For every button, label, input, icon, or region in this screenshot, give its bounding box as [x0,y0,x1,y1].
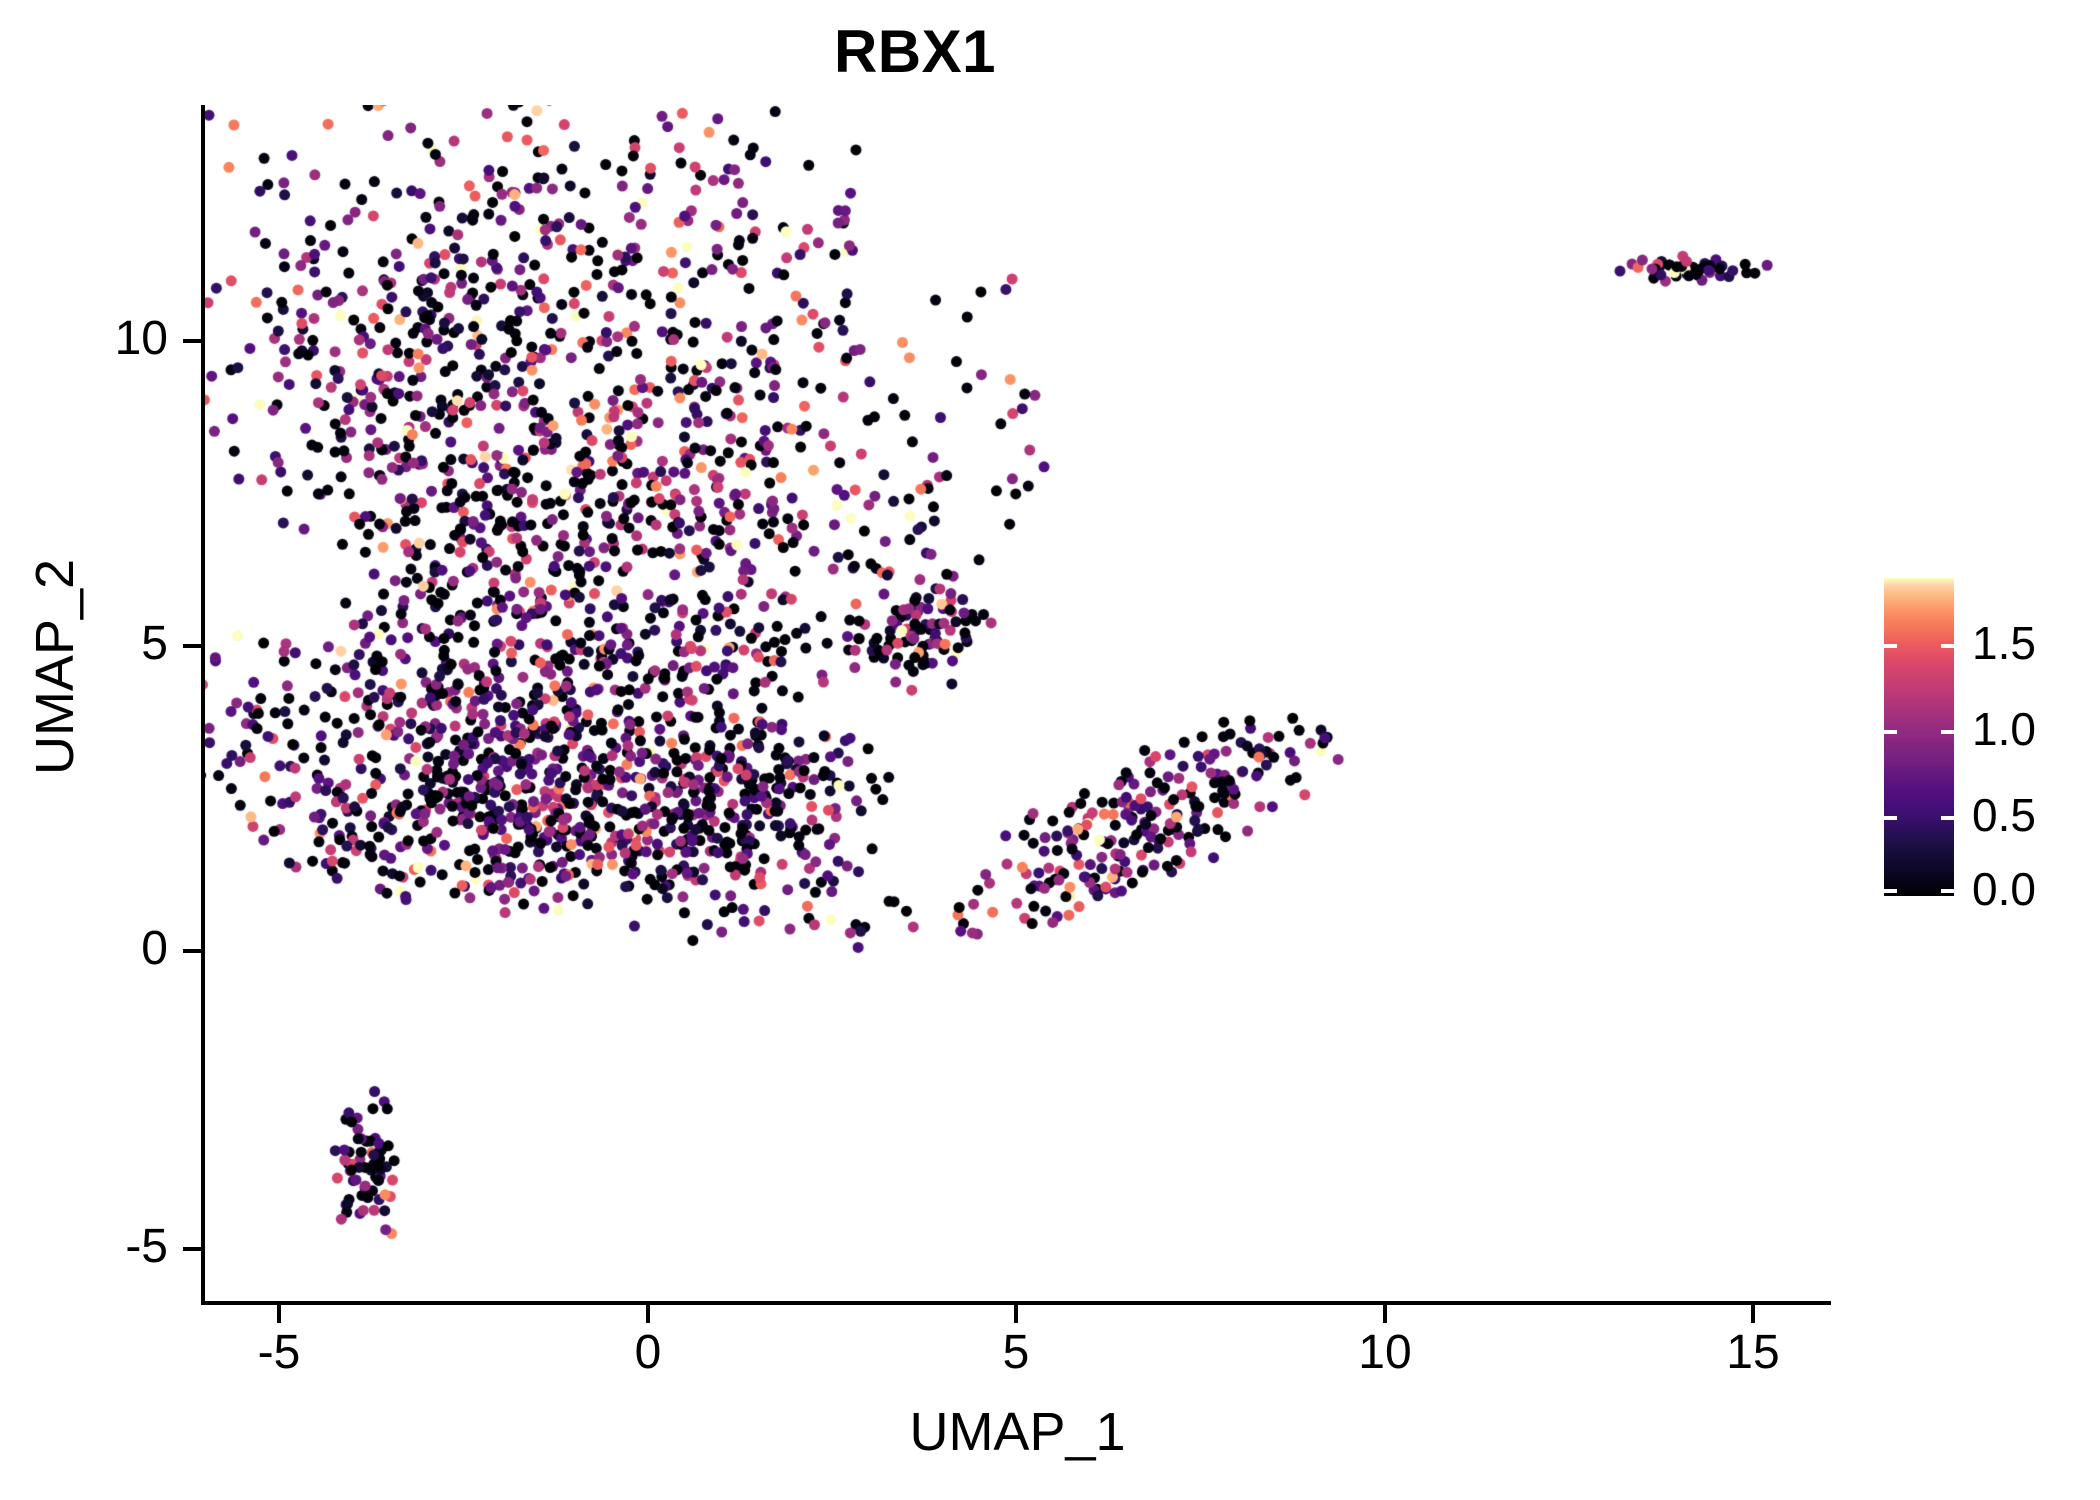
page-title: RBX1 [0,22,1830,82]
scatter-points-canvas [205,105,1830,1303]
colorbar-label: 1.0 [1972,706,2036,752]
x-tick-label: -5 [199,1328,359,1378]
colorbar-tick [1884,644,1897,648]
colorbar-tick [1941,889,1954,893]
colorbar-tick [1884,730,1897,734]
x-tick-mark [646,1305,650,1323]
y-tick-mark [183,339,201,343]
colorbar-label: 0.0 [1972,866,2036,912]
x-tick-mark [1014,1305,1018,1323]
colorbar-gradient [1884,578,1954,896]
colorbar-tick [1884,889,1897,893]
x-tick-label: 15 [1673,1328,1833,1378]
x-tick-mark [1383,1305,1387,1323]
colorbar-tick [1941,644,1954,648]
y-tick-label: 0 [0,924,168,974]
umap-feature-plot: RBX1 -5 0 5 10 15 -5 0 5 10 UMAP_1 UMAP_… [0,0,2100,1500]
y-axis-line [201,105,205,1305]
y-tick-mark [183,949,201,953]
colorbar-legend: 1.5 1.0 0.5 0.0 [1884,578,2084,898]
x-tick-mark [1751,1305,1755,1323]
colorbar-tick [1941,816,1954,820]
colorbar-tick [1884,816,1897,820]
x-tick-label: 5 [936,1328,1096,1378]
colorbar-label: 1.5 [1972,620,2036,666]
x-tick-label: 10 [1305,1328,1465,1378]
x-axis-title: UMAP_1 [205,1405,1830,1459]
scatter-plot-panel [205,105,1830,1303]
y-tick-label: -5 [0,1222,168,1272]
y-axis-title: UMAP_2 [28,347,82,987]
colorbar-tick [1941,730,1954,734]
x-tick-mark [277,1305,281,1323]
y-tick-mark [183,1247,201,1251]
colorbar-label: 0.5 [1972,792,2036,838]
y-tick-mark [183,644,201,648]
y-tick-label: 10 [0,314,168,364]
x-tick-label: 0 [568,1328,728,1378]
